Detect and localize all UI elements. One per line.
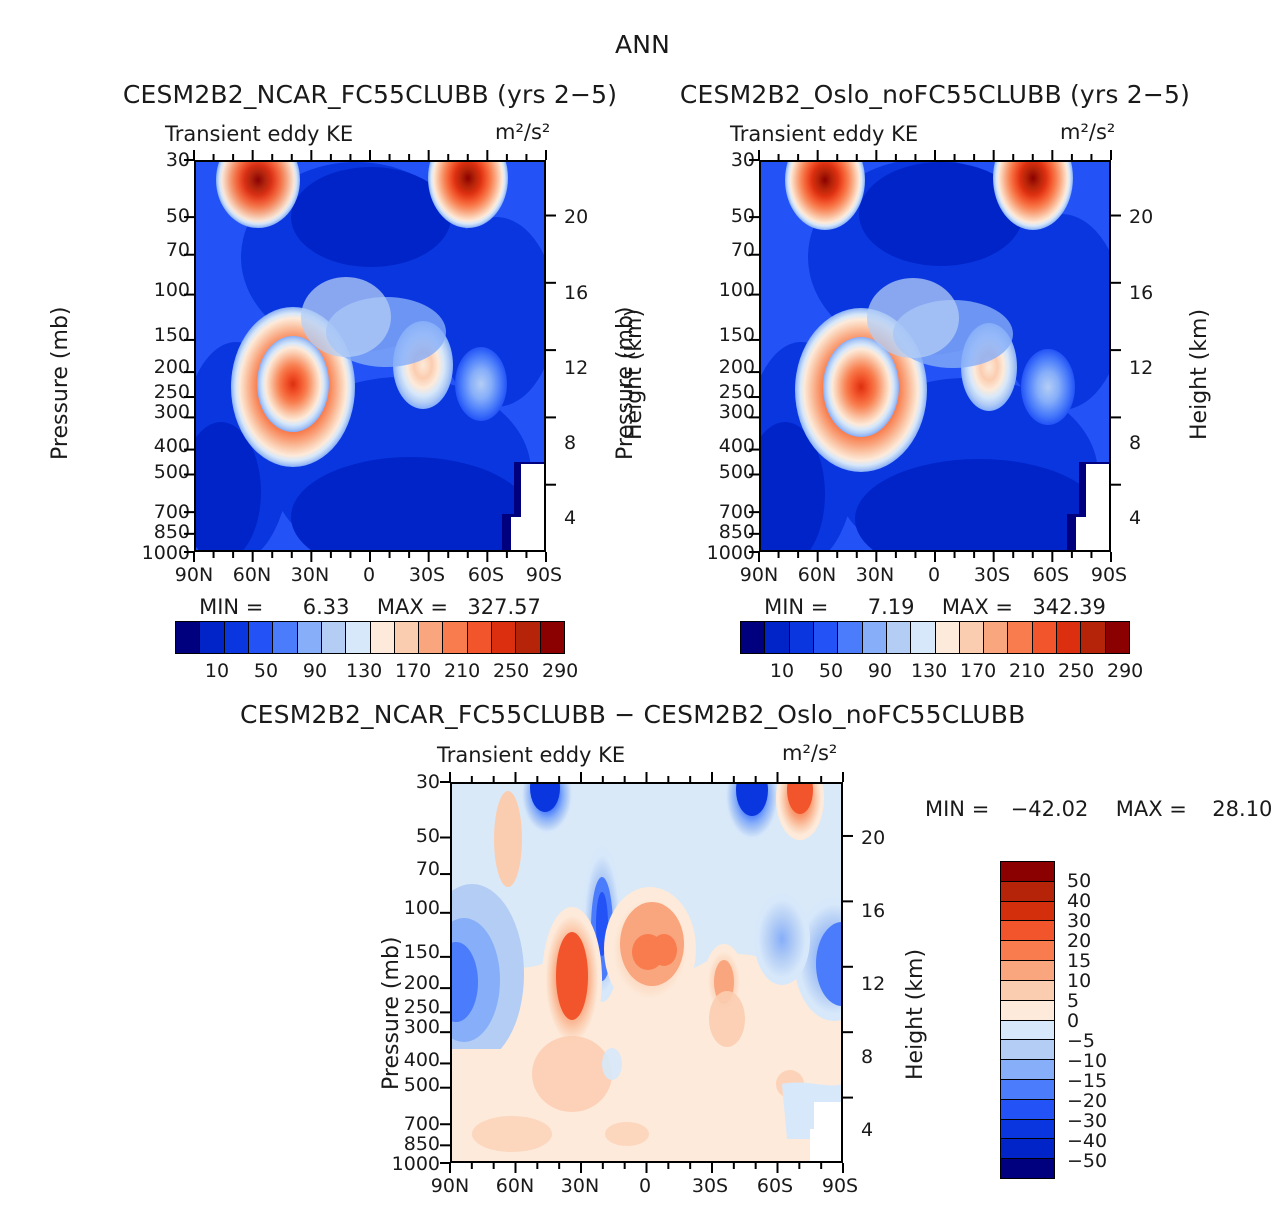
cbtick: −20 xyxy=(1067,1090,1107,1112)
ptick: 250 xyxy=(150,381,190,403)
ptick: 1000 xyxy=(703,542,755,564)
panel-top-left-plot xyxy=(194,160,546,552)
max-label: MAX = xyxy=(1116,797,1187,821)
panel-top-right-minmax: MIN = 7.19 MAX = 342.39 xyxy=(759,595,1111,619)
colorbar-swatch xyxy=(887,622,911,653)
cbtick: 10 xyxy=(199,660,235,682)
lattick: 30S xyxy=(403,564,451,586)
cbtick: −15 xyxy=(1067,1070,1107,1092)
contour-field-difference xyxy=(452,784,843,1163)
colorbar-swatch xyxy=(765,622,789,653)
cbtick: −50 xyxy=(1067,1150,1107,1172)
figure-season-title: ANN xyxy=(0,30,1285,59)
colorbar-swatch xyxy=(1001,1080,1054,1100)
cbtick: −30 xyxy=(1067,1110,1107,1132)
lattick: 0 xyxy=(621,1175,669,1197)
cbtick: 15 xyxy=(1067,950,1091,972)
colorbar-swatch xyxy=(492,622,516,653)
panel-top-right-pressure-axis-name: Pressure (mb) xyxy=(613,307,638,461)
min-label: MIN = xyxy=(199,595,263,619)
lattick: 90S xyxy=(520,564,568,586)
max-label: MAX = xyxy=(377,595,448,619)
lattick: 30S xyxy=(686,1175,734,1197)
cbtick: 10 xyxy=(764,660,800,682)
colorbar-swatch xyxy=(273,622,297,653)
panel-top-left-variable: Transient eddy KE xyxy=(165,122,353,146)
ptick: 150 xyxy=(400,941,440,963)
lattick: 30S xyxy=(968,564,1016,586)
colorbar-swatch xyxy=(1008,622,1032,653)
ptick: 1000 xyxy=(388,1153,440,1175)
colorbar-swatch xyxy=(1033,622,1057,653)
colorbar-swatch xyxy=(741,622,765,653)
htick: 20 xyxy=(564,206,588,228)
panel-top-left-title: CESM2B2_NCAR_FC55CLUBB (yrs 2−5) xyxy=(110,80,630,109)
colorbar-swatch xyxy=(322,622,346,653)
colorbar-swatch xyxy=(1106,622,1129,653)
ptick: 300 xyxy=(400,1016,440,1038)
htick: 8 xyxy=(564,432,576,454)
colorbar-swatch xyxy=(1001,1159,1054,1178)
ptick: 70 xyxy=(715,239,755,261)
cbtick: 250 xyxy=(493,660,529,682)
min-value: 7.19 xyxy=(868,595,915,619)
colorbar-swatch xyxy=(1001,921,1054,941)
ptick: 250 xyxy=(715,381,755,403)
colorbar-swatch xyxy=(1001,862,1054,882)
ptick: 100 xyxy=(400,897,440,919)
cbtick: 30 xyxy=(1067,910,1091,932)
colorbar-swatch xyxy=(814,622,838,653)
panel-bottom-height-axis-name: Height (km) xyxy=(903,949,928,1080)
cbtick: 90 xyxy=(297,660,333,682)
colorbar-top-right[interactable] xyxy=(740,621,1130,654)
htick: 12 xyxy=(564,357,588,379)
lattick: 60S xyxy=(751,1175,799,1197)
htick: 8 xyxy=(861,1046,873,1068)
ptick: 30 xyxy=(400,771,440,793)
colorbar-swatch xyxy=(911,622,935,653)
lattick: 60S xyxy=(1027,564,1075,586)
ptick: 50 xyxy=(715,205,755,227)
ptick: 500 xyxy=(150,461,190,483)
colorbar-swatch xyxy=(1001,981,1054,1001)
ptick: 150 xyxy=(150,324,190,346)
ptick: 200 xyxy=(400,972,440,994)
panel-top-right-variable: Transient eddy KE xyxy=(730,122,918,146)
ptick: 150 xyxy=(715,324,755,346)
cbtick: 90 xyxy=(862,660,898,682)
colorbar-swatch xyxy=(1001,1021,1054,1041)
lattick: 30N xyxy=(851,564,899,586)
colorbar-swatch xyxy=(1001,1139,1054,1159)
colorbar-swatch xyxy=(838,622,862,653)
ptick: 1000 xyxy=(138,542,190,564)
ptick: 100 xyxy=(150,279,190,301)
max-value: 327.57 xyxy=(467,595,540,619)
colorbar-swatch xyxy=(225,622,249,653)
cbtick: 170 xyxy=(960,660,996,682)
min-label: MIN = xyxy=(764,595,828,619)
htick: 16 xyxy=(564,282,588,304)
panel-bottom-variable: Transient eddy KE xyxy=(437,743,625,767)
panel-top-right-plot xyxy=(759,160,1111,552)
colorbar-swatch xyxy=(1081,622,1105,653)
cbtick: 210 xyxy=(1009,660,1045,682)
cbtick: 0 xyxy=(1067,1010,1079,1032)
cbtick: 50 xyxy=(813,660,849,682)
max-value: 342.39 xyxy=(1032,595,1105,619)
colorbar-swatch xyxy=(1001,1001,1054,1021)
cbtick: −40 xyxy=(1067,1130,1107,1152)
htick: 4 xyxy=(1129,507,1141,529)
cbtick: 50 xyxy=(248,660,284,682)
colorbar-swatch xyxy=(1001,961,1054,981)
colorbar-swatch xyxy=(346,622,370,653)
colorbar-swatch xyxy=(1001,902,1054,922)
panel-top-right-height-axis-name: Height (km) xyxy=(1187,309,1212,440)
colorbar-swatch xyxy=(1001,1120,1054,1140)
ptick: 850 xyxy=(150,521,190,543)
ptick: 30 xyxy=(150,149,190,171)
ptick: 400 xyxy=(400,1049,440,1071)
max-label: MAX = xyxy=(942,595,1013,619)
lattick: 90S xyxy=(1085,564,1133,586)
lattick: 30N xyxy=(286,564,334,586)
panel-bottom-pressure-axis-name: Pressure (mb) xyxy=(379,937,404,1091)
colorbar-swatch xyxy=(541,622,564,653)
ptick: 400 xyxy=(150,435,190,457)
colorbar-top-left[interactable] xyxy=(175,621,565,654)
lattick: 0 xyxy=(910,564,958,586)
colorbar-swatch xyxy=(936,622,960,653)
ptick: 500 xyxy=(715,461,755,483)
colorbar-difference[interactable] xyxy=(1000,861,1055,1179)
htick: 12 xyxy=(861,973,885,995)
colorbar-swatch xyxy=(1001,1100,1054,1120)
cbtick: −5 xyxy=(1067,1030,1095,1052)
lattick: 60N xyxy=(491,1175,539,1197)
max-value: 28.10 xyxy=(1212,797,1272,821)
ptick: 50 xyxy=(150,205,190,227)
colorbar-swatch xyxy=(249,622,273,653)
htick: 4 xyxy=(564,507,576,529)
lattick: 90N xyxy=(170,564,218,586)
ptick: 300 xyxy=(715,401,755,423)
colorbar-swatch xyxy=(200,622,224,653)
colorbar-swatch xyxy=(1001,1060,1054,1080)
colorbar-swatch xyxy=(371,622,395,653)
lattick: 60N xyxy=(228,564,276,586)
panel-bottom-minmax: MIN = −42.02 MAX = 28.10 xyxy=(925,797,1272,821)
cbtick: 5 xyxy=(1067,990,1079,1012)
ptick: 70 xyxy=(150,239,190,261)
ptick: 250 xyxy=(400,996,440,1018)
lattick: 60N xyxy=(793,564,841,586)
colorbar-swatch xyxy=(395,622,419,653)
lattick: 90S xyxy=(816,1175,864,1197)
min-value: −42.02 xyxy=(1011,797,1089,821)
cbtick: 290 xyxy=(1107,660,1143,682)
ptick: 30 xyxy=(715,149,755,171)
panel-top-right-units: m²/s² xyxy=(1060,120,1115,144)
panel-bottom-plot xyxy=(450,782,843,1163)
htick: 12 xyxy=(1129,357,1153,379)
ptick: 200 xyxy=(715,356,755,378)
colorbar-swatch xyxy=(468,622,492,653)
cbtick: 130 xyxy=(346,660,382,682)
ptick: 700 xyxy=(715,501,755,523)
colorbar-swatch xyxy=(176,622,200,653)
htick: 16 xyxy=(861,900,885,922)
lattick: 90N xyxy=(426,1175,474,1197)
colorbar-swatch xyxy=(298,622,322,653)
htick: 20 xyxy=(1129,206,1153,228)
cbtick: 50 xyxy=(1067,870,1091,892)
cbtick: 20 xyxy=(1067,930,1091,952)
min-value: 6.33 xyxy=(303,595,350,619)
ptick: 200 xyxy=(150,356,190,378)
cbtick: 10 xyxy=(1067,970,1091,992)
panel-top-left-pressure-axis-name: Pressure (mb) xyxy=(48,307,73,461)
htick: 20 xyxy=(861,827,885,849)
htick: 8 xyxy=(1129,432,1141,454)
panel-top-left: CESM2B2_NCAR_FC55CLUBB (yrs 2−5) Transie… xyxy=(110,80,630,680)
panel-top-right-title: CESM2B2_Oslo_noFC55CLUBB (yrs 2−5) xyxy=(675,80,1195,109)
colorbar-swatch xyxy=(960,622,984,653)
panel-top-left-units: m²/s² xyxy=(495,120,550,144)
ptick: 400 xyxy=(715,435,755,457)
ptick: 700 xyxy=(150,501,190,523)
ptick: 50 xyxy=(400,825,440,847)
lattick: 0 xyxy=(345,564,393,586)
cbtick: −10 xyxy=(1067,1050,1107,1072)
colorbar-swatch xyxy=(1001,941,1054,961)
panel-top-right: CESM2B2_Oslo_noFC55CLUBB (yrs 2−5) Trans… xyxy=(675,80,1195,680)
cbtick: 290 xyxy=(542,660,578,682)
colorbar-swatch xyxy=(1057,622,1081,653)
lattick: 90N xyxy=(735,564,783,586)
colorbar-swatch xyxy=(516,622,540,653)
panel-bottom-units: m²/s² xyxy=(782,741,837,765)
ptick: 70 xyxy=(400,858,440,880)
panel-bottom-difference: CESM2B2_NCAR_FC55CLUBB − CESM2B2_Oslo_no… xyxy=(240,700,880,1216)
contour-field-top-right xyxy=(761,162,1111,552)
contour-field-top-left xyxy=(196,162,546,552)
cbtick: 210 xyxy=(444,660,480,682)
ptick: 700 xyxy=(400,1113,440,1135)
ptick: 500 xyxy=(400,1074,440,1096)
colorbar-swatch xyxy=(984,622,1008,653)
panel-top-left-minmax: MIN = 6.33 MAX = 327.57 xyxy=(194,595,546,619)
colorbar-swatch xyxy=(1001,882,1054,902)
ptick: 100 xyxy=(715,279,755,301)
colorbar-swatch xyxy=(419,622,443,653)
colorbar-swatch xyxy=(443,622,467,653)
ptick: 850 xyxy=(715,521,755,543)
colorbar-swatch xyxy=(1001,1040,1054,1060)
cbtick: 40 xyxy=(1067,890,1091,912)
colorbar-swatch xyxy=(863,622,887,653)
lattick: 30N xyxy=(556,1175,604,1197)
cbtick: 170 xyxy=(395,660,431,682)
ptick: 850 xyxy=(400,1133,440,1155)
colorbar-swatch xyxy=(790,622,814,653)
htick: 4 xyxy=(861,1119,873,1141)
min-label: MIN = xyxy=(925,797,989,821)
panel-bottom-title: CESM2B2_NCAR_FC55CLUBB − CESM2B2_Oslo_no… xyxy=(240,700,880,729)
cbtick: 130 xyxy=(911,660,947,682)
cbtick: 250 xyxy=(1058,660,1094,682)
ptick: 300 xyxy=(150,401,190,423)
lattick: 60S xyxy=(462,564,510,586)
htick: 16 xyxy=(1129,282,1153,304)
